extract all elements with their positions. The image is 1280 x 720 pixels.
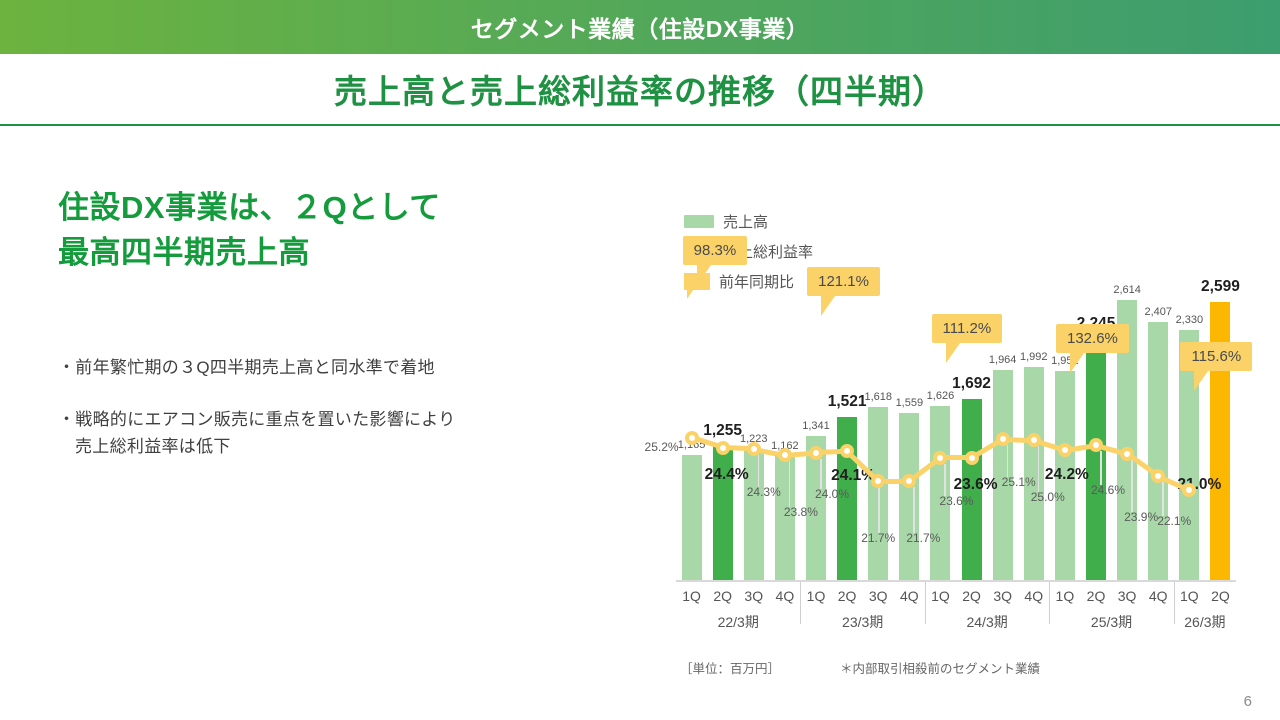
margin-data-point [747,442,761,456]
bullet-list: ・前年繁忙期の３Q四半期売上高と同水準で着地 ・戦略的にエアコン販売に重点を置い… [58,355,658,486]
label-leader-line [1131,460,1133,512]
x-tick-quarter: 4Q [894,588,924,604]
label-leader-line [878,487,880,533]
x-tick-fiscal-year: 26/3期 [1165,612,1245,632]
margin-value-label: 21.7% [896,531,950,545]
x-tick-quarter: 4Q [1143,588,1173,604]
x-tick-quarter: 2Q [957,588,987,604]
page-title-area: 売上高と売上総利益率の推移（四半期） [0,54,1280,124]
bullet-item: ・戦略的にエアコン販売に重点を置いた影響により 売上総利益率は低下 [58,407,658,460]
margin-value-label: 23.6% [929,494,983,508]
x-tick-quarter: 1Q [1174,588,1204,604]
x-tick-quarter: 2Q [708,588,738,604]
margin-data-point [809,446,823,460]
margin-value-label: 24.4% [696,466,758,484]
bullet-text-second-line: 売上総利益率は低下 [58,434,658,460]
x-tick-quarter: 2Q [1205,588,1235,604]
x-tick-quarter: 2Q [1081,588,1111,604]
label-leader-line [789,461,791,507]
margin-value-label: 24.0% [805,487,859,501]
margin-value-label: 24.2% [1036,466,1098,484]
unit-note: ［単位：百万円］ [680,658,780,677]
label-leader-line [1162,482,1164,516]
label-leader-line [758,455,760,487]
margin-data-point [996,432,1010,446]
x-tick-quarter: 1Q [677,588,707,604]
margin-value-label: 25.0% [1021,490,1075,504]
lead-line-1: 住設DX事業は、２Qとして [58,186,658,231]
x-tick-fiscal-year: 24/3期 [947,612,1027,632]
x-tick-fiscal-year: 22/3期 [698,612,778,632]
x-tick-quarter: 3Q [1112,588,1142,604]
margin-value-label: 23.8% [774,505,828,519]
x-tick-quarter: 3Q [739,588,769,604]
x-tick-quarter: 1Q [1050,588,1080,604]
margin-value-label: 24.6% [1081,483,1135,497]
yoy-callout: 132.6% [1056,324,1129,353]
margin-value-label: 24.3% [737,485,791,499]
margin-data-point [965,451,979,465]
x-tick-quarter: 2Q [832,588,862,604]
margin-value-label: 25.2% [635,440,689,454]
bar-value-label: 2,599 [1191,278,1249,296]
label-leader-line [1007,445,1009,477]
bullet-text: ・戦略的にエアコン販売に重点を置いた影響により [58,410,456,429]
bullet-text: ・前年繁忙期の３Q四半期売上高と同水準で着地 [58,358,435,377]
x-tick-quarter: 4Q [770,588,800,604]
page-title: 売上高と売上総利益率の推移（四半期） [334,65,946,113]
yoy-callout: 115.6% [1180,342,1252,371]
page-number: 6 [1244,693,1252,710]
bullet-item: ・前年繁忙期の３Q四半期売上高と同水準で着地 [58,355,658,381]
title-divider [0,124,1280,126]
x-tick-fiscal-year: 25/3期 [1072,612,1152,632]
slide: セグメント業績（住設DX事業） 売上高と売上総利益率の推移（四半期） 住設DX事… [0,0,1280,720]
x-tick-quarter: 1Q [801,588,831,604]
label-leader-line [1100,451,1102,485]
bar-4q-15 [1148,322,1168,580]
margin-data-point [778,448,792,462]
lead-statement: 住設DX事業は、２Qとして 最高四半期売上高 [58,186,658,276]
header-band-title: セグメント業績（住設DX事業） [471,10,809,44]
segment-note: ＊内部取引相殺前のセグメント業績 [840,658,1040,677]
yoy-callout: 111.2% [932,314,1003,343]
margin-data-point [1120,447,1134,461]
x-tick-quarter: 1Q [925,588,955,604]
margin-value-label: 22.1% [1147,514,1201,528]
x-tick-quarter: 3Q [988,588,1018,604]
margin-data-point [685,431,699,445]
label-leader-line [913,487,915,533]
sales-and-margin-chart: 売上高 売上総利益率 前年同期比 1,1651,2551,2231,1621,3… [668,196,1246,646]
bar-value-label: 2,614 [1098,284,1156,296]
header-band: セグメント業績（住設DX事業） [0,0,1280,54]
lead-line-2: 最高四半期売上高 [58,231,658,276]
x-tick-quarter: 4Q [1019,588,1049,604]
plot-area: 1,1651,2551,2231,1621,3411,5211,6181,559… [676,196,1236,582]
quarter-label-row: 1Q2Q3Q4Q1Q2Q3Q4Q1Q2Q3Q4Q1Q2Q3Q4Q1Q2Q [676,588,1236,610]
bar-2q-13 [1086,339,1106,580]
margin-data-point [716,441,730,455]
x-tick-fiscal-year: 23/3期 [823,612,903,632]
bar-4q-7 [899,413,919,580]
yoy-callout: 98.3% [683,236,748,265]
yoy-callout: 121.1% [807,267,880,296]
x-tick-quarter: 3Q [863,588,893,604]
axis-baseline [676,580,1236,582]
